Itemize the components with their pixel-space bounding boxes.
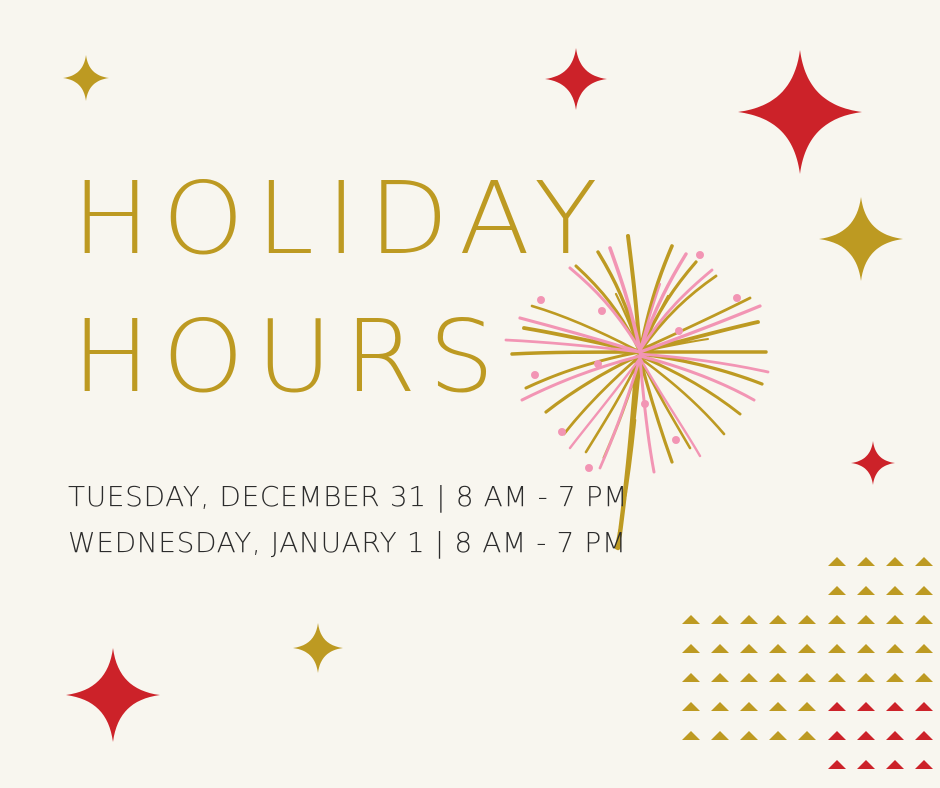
sparkle-star-red-top-right [738,50,862,174]
triangle-block-left-gold [682,615,827,760]
triangle-marker [711,731,729,740]
triangle-marker [857,760,875,769]
triangle-marker [857,731,875,740]
triangle-marker [886,702,904,711]
triangle-marker [857,557,875,566]
triangle-marker [915,586,933,595]
triangle-marker [740,702,758,711]
triangle-marker [915,731,933,740]
title-line-1: HOLIDAY [72,152,792,284]
triangle-marker [682,644,700,653]
triangle-marker [682,731,700,740]
sparkle-star-gold-top-left [63,55,109,101]
sparkle-star-gold-bottom-mid [293,623,343,673]
triangle-marker [915,615,933,624]
triangle-marker [915,557,933,566]
triangle-marker [828,731,846,740]
triangle-marker [711,702,729,711]
page-title: HOLIDAY HOURS [72,152,792,428]
triangle-marker [711,673,729,682]
triangle-marker [915,673,933,682]
triangle-marker [740,615,758,624]
triangle-marker [798,673,816,682]
triangle-marker [886,760,904,769]
triangle-marker [798,731,816,740]
triangle-marker [769,644,787,653]
triangle-marker [682,615,700,624]
triangle-marker [857,586,875,595]
sparkle-star-red-mid-right [851,441,895,485]
hours-list: TUESDAY, DECEMBER 31 | 8 AM - 7 PM WEDNE… [68,474,768,566]
triangle-marker [740,731,758,740]
triangle-marker [828,557,846,566]
triangle-marker [857,673,875,682]
triangle-marker [828,760,846,769]
triangle-marker [828,673,846,682]
triangle-marker [857,615,875,624]
triangle-marker [857,644,875,653]
triangle-marker [682,702,700,711]
triangle-marker [740,644,758,653]
triangle-marker [886,731,904,740]
triangle-marker [798,702,816,711]
triangle-marker [798,615,816,624]
triangle-block-right-gold [828,557,940,702]
triangle-marker [915,644,933,653]
triangle-marker [711,615,729,624]
triangle-marker [711,644,729,653]
sparkle-star-red-top-center [545,48,607,110]
triangle-marker [915,760,933,769]
triangle-marker [886,586,904,595]
triangle-marker [886,615,904,624]
triangle-marker [886,644,904,653]
triangle-marker [769,731,787,740]
hours-line-wednesday: WEDNESDAY, JANUARY 1 | 8 AM - 7 PM [68,520,768,566]
triangle-marker [828,615,846,624]
triangle-marker [769,702,787,711]
sparkle-star-red-bottom-left [66,648,160,742]
triangle-marker [769,615,787,624]
triangle-block-right-red [828,702,940,788]
triangle-marker [740,673,758,682]
title-line-2: HOURS [72,290,792,422]
triangle-marker [886,673,904,682]
triangle-marker [886,557,904,566]
sparkle-star-gold-right [819,197,903,281]
triangle-marker [828,644,846,653]
triangle-marker [828,586,846,595]
triangle-marker [828,702,846,711]
holiday-hours-poster: HOLIDAY HOURS TUESDAY, DECEMBER 31 | 8 A… [0,0,940,788]
triangle-marker [915,702,933,711]
hours-line-tuesday: TUESDAY, DECEMBER 31 | 8 AM - 7 PM [68,474,768,520]
triangle-marker [798,644,816,653]
triangle-marker [857,702,875,711]
triangle-marker [769,673,787,682]
triangle-marker [682,673,700,682]
